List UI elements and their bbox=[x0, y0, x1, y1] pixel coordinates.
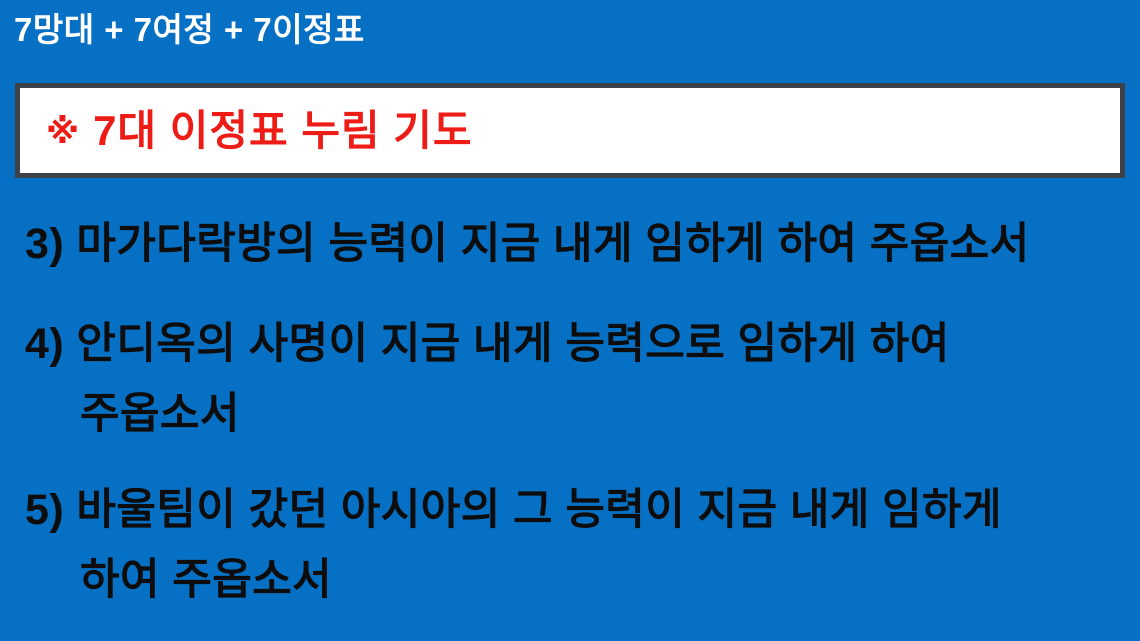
page-title: 7망대 + 7여정 + 7이정표 bbox=[14, 11, 365, 49]
prayer-line: 3) 마가다락방의 능력이 지금 내게 임하게 하여 주옵소서 bbox=[25, 222, 1030, 267]
prayer-line: 5) 바울팀이 갔던 아시아의 그 능력이 지금 내게 임하게 bbox=[25, 488, 1002, 533]
reference-mark-icon: ※ bbox=[46, 115, 79, 149]
prayer-line-continuation: 주옵소서 bbox=[80, 392, 240, 437]
prayer-line: 4) 안디옥의 사명이 지금 내게 능력으로 임하게 하여 bbox=[25, 322, 950, 367]
headline-callout-box: ※ 7대 이정표 누림 기도 bbox=[15, 83, 1125, 178]
headline-text: 7대 이정표 누림 기도 bbox=[93, 110, 473, 152]
headline-content: ※ 7대 이정표 누림 기도 bbox=[20, 110, 473, 152]
prayer-line-continuation: 하여 주옵소서 bbox=[80, 558, 332, 603]
slide-canvas: 7망대 + 7여정 + 7이정표 ※ 7대 이정표 누림 기도 3) 마가다락방… bbox=[0, 0, 1140, 641]
